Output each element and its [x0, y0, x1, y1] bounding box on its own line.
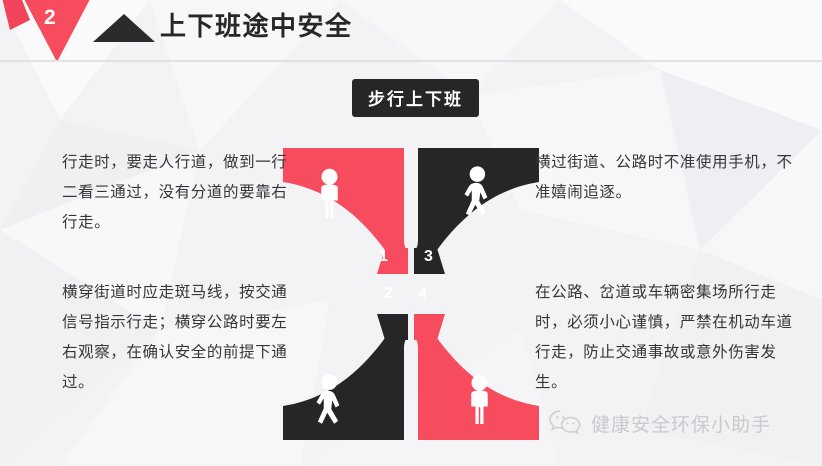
- arrow-number-4: 4: [418, 285, 427, 303]
- slide-canvas: 2 上下班途中安全 步行上下班: [0, 0, 822, 466]
- section-subtitle-badge: 步行上下班: [352, 79, 479, 117]
- triangle-up-icon: [93, 14, 155, 42]
- pedestrian-standing-icon: [321, 169, 338, 218]
- arrow-quadrant-2: [283, 314, 408, 440]
- converging-arrows-diagram: [281, 122, 541, 466]
- tip-text-top-left: 行走时，要走人行道，做到一行二看三通过，没有分道的要靠右行走。: [62, 148, 294, 238]
- header-bar: 2 上下班途中安全: [0, 0, 822, 62]
- tip-text-bottom-right: 在公路、岔道或车辆密集场所行走时，必须小心谨慎，严禁在机动车道行走，防止交通事故…: [535, 278, 797, 398]
- footer-account-name: 健康安全环保小助手: [591, 410, 771, 437]
- badge-number: 2: [44, 6, 56, 30]
- arrow-number-1: 1: [379, 248, 388, 266]
- page-title: 上下班途中安全: [160, 6, 353, 43]
- tip-text-bottom-left: 横穿街道时应走斑马线，按交通信号指示行走；横穿公路时要左右观察，在确认安全的前提…: [62, 278, 294, 398]
- arrow-number-3: 3: [424, 248, 433, 266]
- section-subtitle-label: 步行上下班: [368, 90, 463, 109]
- wechat-icon: [548, 409, 582, 437]
- arrow-number-2: 2: [384, 285, 393, 303]
- tip-text-top-right: 横过街道、公路时不准使用手机，不准嬉闹追逐。: [535, 148, 797, 208]
- header-divider: [0, 60, 822, 62]
- footer-watermark: 健康安全环保小助手: [548, 406, 771, 440]
- arrow-quadrant-1: [283, 148, 408, 274]
